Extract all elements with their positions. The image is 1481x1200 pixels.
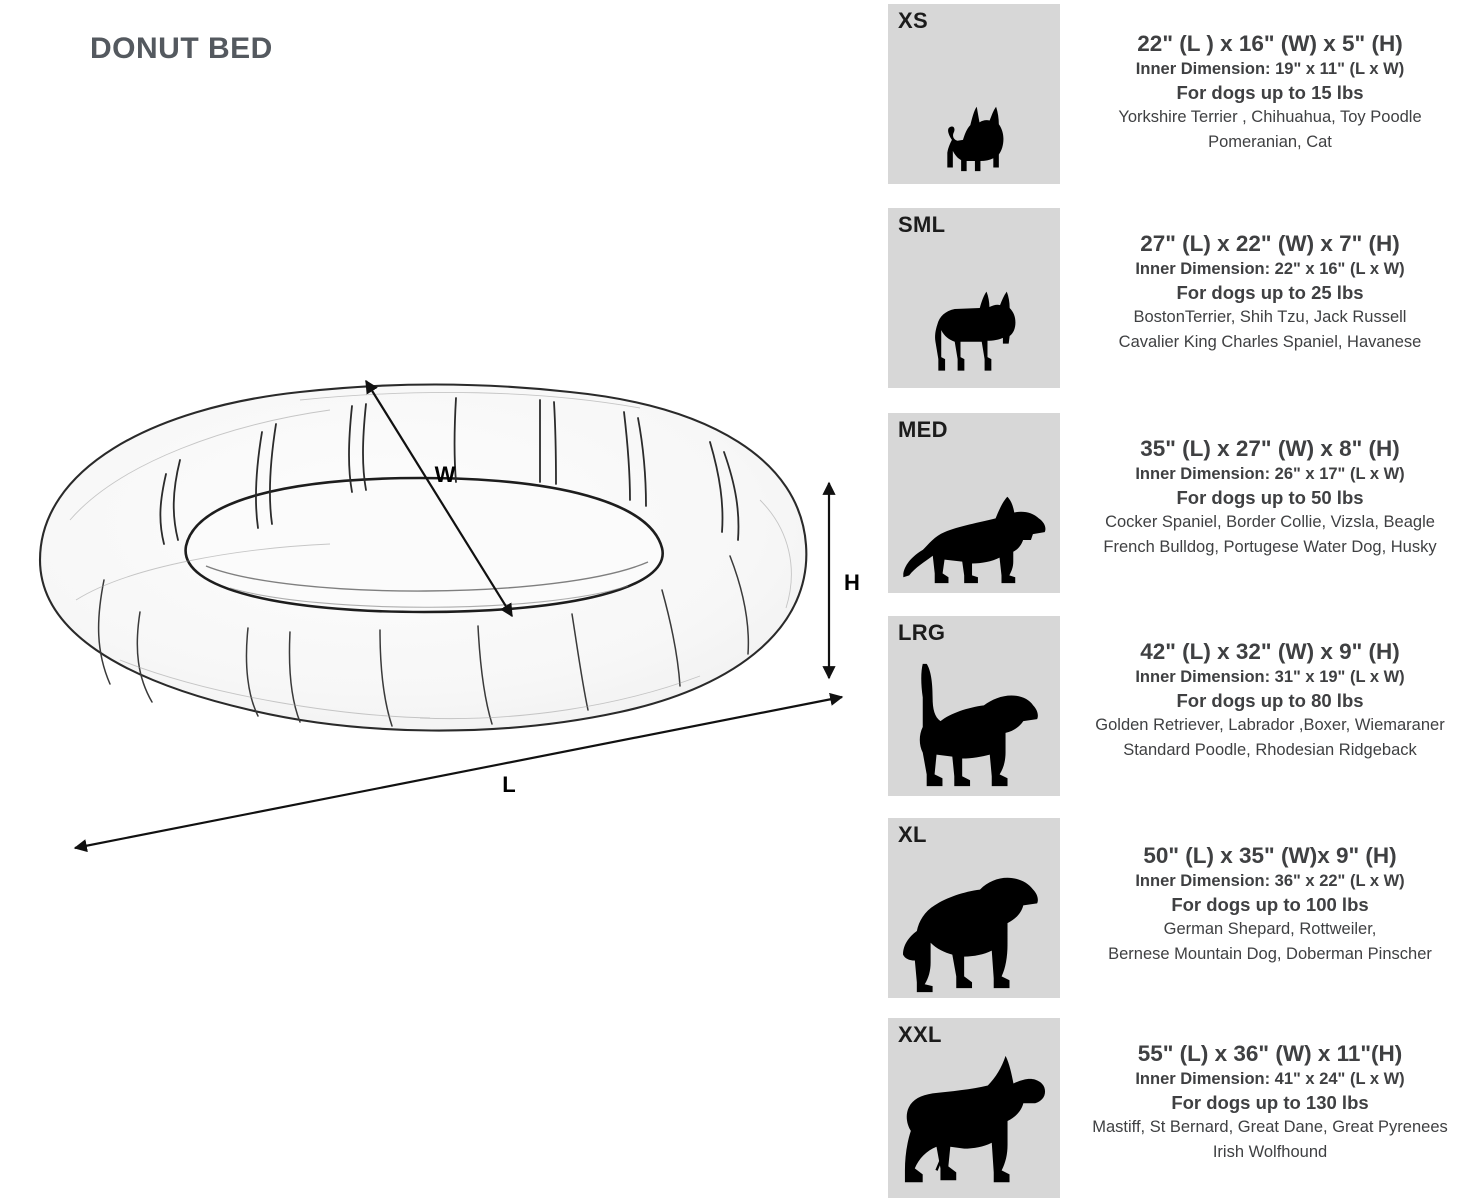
- weight-limit-lrg: For dogs up to 80 lbs: [1070, 689, 1470, 714]
- weight-limit-xs: For dogs up to 15 lbs: [1070, 81, 1470, 106]
- size-swatch-xl: XL: [888, 818, 1060, 998]
- inner-dimension-lrg: Inner Dimension: 31" x 19" (L x W): [1070, 666, 1470, 689]
- weight-limit-med: For dogs up to 50 lbs: [1070, 486, 1470, 511]
- dimensions-lrg: 42" (L) x 32" (W) x 9" (H): [1070, 638, 1470, 666]
- size-row-xs[interactable]: XS 22" (L ) x 16" (W) x 5" (H) Inner Dim…: [880, 4, 1481, 184]
- size-desc-lrg: 42" (L) x 32" (W) x 9" (H) Inner Dimensi…: [1070, 638, 1470, 763]
- dimensions-xxl: 55" (L) x 36" (W) x 11"(H): [1070, 1040, 1470, 1068]
- labrador-silhouette: [888, 658, 1060, 796]
- boston-terrier-silhouette: [888, 282, 1060, 388]
- size-label-xs: XS: [898, 8, 928, 34]
- size-desc-sml: 27" (L) x 22" (W) x 7" (H) Inner Dimensi…: [1070, 230, 1470, 355]
- size-label-sml: SML: [898, 212, 945, 238]
- breeds-line-2-sml: Cavalier King Charles Spaniel, Havanese: [1070, 330, 1470, 355]
- width-label: W: [435, 462, 456, 487]
- size-swatch-med: MED: [888, 413, 1060, 593]
- breeds-line-2-lrg: Standard Poodle, Rhodesian Ridgeback: [1070, 738, 1470, 763]
- great-dane-silhouette: [888, 1050, 1060, 1198]
- bed-inner-cavity: [186, 478, 663, 612]
- size-desc-xs: 22" (L ) x 16" (W) x 5" (H) Inner Dimens…: [1070, 30, 1470, 155]
- inner-dimension-xl: Inner Dimension: 36" x 22" (L x W): [1070, 870, 1470, 893]
- size-label-med: MED: [898, 417, 948, 443]
- dimensions-xs: 22" (L ) x 16" (W) x 5" (H): [1070, 30, 1470, 58]
- size-row-xxl[interactable]: XXL 55" (L) x 36" (W) x 11"(H) Inner Dim…: [880, 1018, 1481, 1198]
- breeds-line-1-med: Cocker Spaniel, Border Collie, Vizsla, B…: [1070, 510, 1470, 535]
- breeds-line-2-med: French Bulldog, Portugese Water Dog, Hus…: [1070, 535, 1470, 560]
- breeds-line-2-xxl: Irish Wolfhound: [1070, 1140, 1470, 1165]
- breeds-line-1-sml: BostonTerrier, Shih Tzu, Jack Russell: [1070, 305, 1470, 330]
- size-label-xxl: XXL: [898, 1022, 942, 1048]
- size-row-xl[interactable]: XL 50" (L) x 35" (W)x 9" (H) Inner Dimen…: [880, 818, 1481, 998]
- weight-limit-xxl: For dogs up to 130 lbs: [1070, 1091, 1470, 1116]
- size-swatch-sml: SML: [888, 208, 1060, 388]
- size-row-lrg[interactable]: LRG 42" (L) x 32" (W) x 9" (H) Inner Dim…: [880, 616, 1481, 796]
- breeds-line-1-xl: German Shepard, Rottweiler,: [1070, 917, 1470, 942]
- breeds-line-1-lrg: Golden Retriever, Labrador ,Boxer, Wiema…: [1070, 713, 1470, 738]
- breeds-line-2-xl: Bernese Mountain Dog, Doberman Pinscher: [1070, 942, 1470, 967]
- height-label: H: [844, 570, 860, 595]
- breeds-line-2-xs: Pomeranian, Cat: [1070, 130, 1470, 155]
- size-label-xl: XL: [898, 822, 927, 848]
- inner-dimension-sml: Inner Dimension: 22" x 16" (L x W): [1070, 258, 1470, 281]
- dimensions-med: 35" (L) x 27" (W) x 8" (H): [1070, 435, 1470, 463]
- inner-dimension-xxl: Inner Dimension: 41" x 24" (L x W): [1070, 1068, 1470, 1091]
- border-collie-silhouette: [888, 485, 1060, 593]
- size-row-med[interactable]: MED 35" (L) x 27" (W) x 8" (H) Inner Dim…: [880, 413, 1481, 593]
- golden-retriever-silhouette: [888, 860, 1060, 998]
- breeds-line-1-xxl: Mastiff, St Bernard, Great Dane, Great P…: [1070, 1115, 1470, 1140]
- inner-dimension-xs: Inner Dimension: 19" x 11" (L x W): [1070, 58, 1470, 81]
- breeds-line-1-xs: Yorkshire Terrier , Chihuahua, Toy Poodl…: [1070, 105, 1470, 130]
- size-swatch-xxl: XXL: [888, 1018, 1060, 1198]
- inner-dimension-med: Inner Dimension: 26" x 17" (L x W): [1070, 463, 1470, 486]
- dimensions-xl: 50" (L) x 35" (W)x 9" (H): [1070, 842, 1470, 870]
- size-label-lrg: LRG: [898, 620, 945, 646]
- donut-bed-illustration: W H L: [0, 0, 880, 1200]
- dimensions-sml: 27" (L) x 22" (W) x 7" (H): [1070, 230, 1470, 258]
- weight-limit-xl: For dogs up to 100 lbs: [1070, 893, 1470, 918]
- length-label: L: [502, 772, 515, 797]
- weight-limit-sml: For dogs up to 25 lbs: [1070, 281, 1470, 306]
- illustration-panel: DONUT BED: [0, 0, 880, 1200]
- size-desc-xl: 50" (L) x 35" (W)x 9" (H) Inner Dimensio…: [1070, 842, 1470, 967]
- size-desc-med: 35" (L) x 27" (W) x 8" (H) Inner Dimensi…: [1070, 435, 1470, 560]
- yorkshire-terrier-silhouette: [888, 92, 1060, 184]
- size-desc-xxl: 55" (L) x 36" (W) x 11"(H) Inner Dimensi…: [1070, 1040, 1470, 1165]
- size-swatch-lrg: LRG: [888, 616, 1060, 796]
- size-table: XS 22" (L ) x 16" (W) x 5" (H) Inner Dim…: [880, 0, 1481, 1200]
- size-row-sml[interactable]: SML 27" (L) x 22" (W) x 7" (H) Inner Dim…: [880, 208, 1481, 388]
- size-swatch-xs: XS: [888, 4, 1060, 184]
